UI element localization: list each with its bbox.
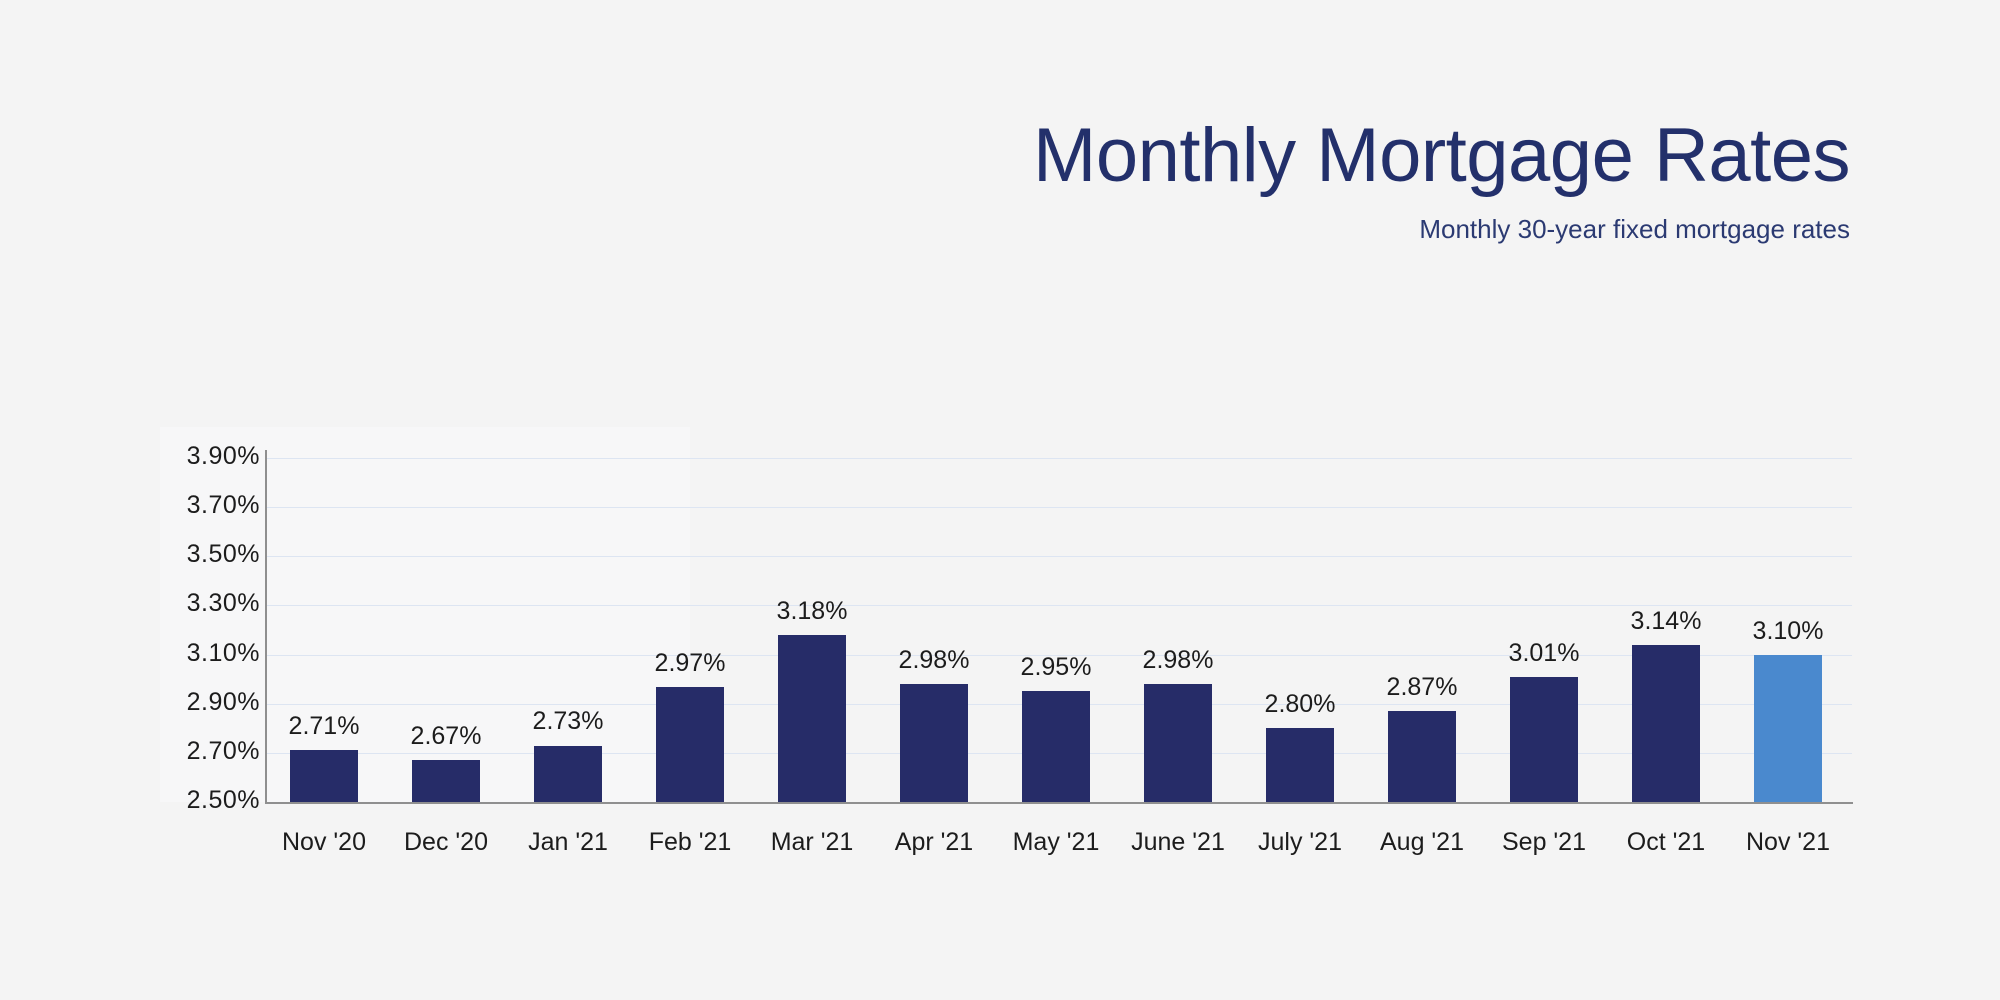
bar-value-label: 2.98%: [1114, 646, 1242, 675]
bar[interactable]: [1144, 684, 1212, 802]
bar[interactable]: [1266, 728, 1334, 802]
plot-area: 3.90%3.70%3.50%3.30%3.10%2.90%2.70%2.50%…: [0, 0, 2000, 1000]
bar[interactable]: [1632, 645, 1700, 802]
bar-value-label: 2.71%: [260, 712, 388, 741]
bar-value-label: 2.80%: [1236, 690, 1364, 719]
x-axis-tick-label: May '21: [986, 828, 1126, 857]
x-axis-tick-label: Apr '21: [864, 828, 1004, 857]
bar-value-label: 2.73%: [504, 707, 632, 736]
bar[interactable]: [290, 750, 358, 802]
bar-value-label: 2.98%: [870, 646, 998, 675]
bar[interactable]: [534, 746, 602, 803]
x-axis-tick-label: Sep '21: [1474, 828, 1614, 857]
bar[interactable]: [412, 760, 480, 802]
chart-page: Monthly Mortgage Rates Monthly 30-year f…: [0, 0, 2000, 1000]
x-axis-tick-label: Nov '21: [1718, 828, 1858, 857]
bar[interactable]: [1754, 655, 1822, 802]
x-axis-tick-label: Mar '21: [742, 828, 882, 857]
x-axis-tick-label: Dec '20: [376, 828, 516, 857]
x-axis-tick-label: July '21: [1230, 828, 1370, 857]
x-axis-tick-label: Oct '21: [1596, 828, 1736, 857]
x-axis-tick-label: June '21: [1108, 828, 1248, 857]
bar-value-label: 2.67%: [382, 722, 510, 751]
bar[interactable]: [1388, 711, 1456, 802]
bar[interactable]: [1022, 691, 1090, 802]
bar[interactable]: [656, 687, 724, 802]
bar[interactable]: [778, 635, 846, 802]
bar-value-label: 2.87%: [1358, 673, 1486, 702]
bar-value-label: 3.14%: [1602, 607, 1730, 636]
bar-value-label: 3.10%: [1724, 617, 1852, 646]
x-axis-tick-label: Jan '21: [498, 828, 638, 857]
bar[interactable]: [900, 684, 968, 802]
x-axis-tick-label: Nov '20: [254, 828, 394, 857]
bar-value-label: 3.01%: [1480, 639, 1608, 668]
bar-value-label: 2.97%: [626, 649, 754, 678]
bar-value-label: 3.18%: [748, 597, 876, 626]
bar-value-label: 2.95%: [992, 653, 1120, 682]
x-axis-tick-label: Feb '21: [620, 828, 760, 857]
bar[interactable]: [1510, 677, 1578, 802]
x-axis-tick-label: Aug '21: [1352, 828, 1492, 857]
